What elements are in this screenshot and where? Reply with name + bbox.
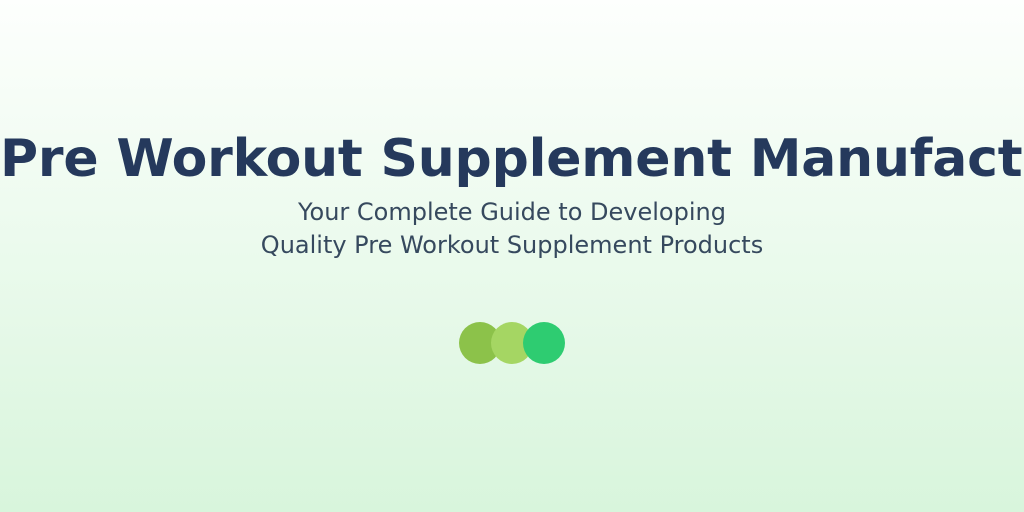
subtitle-block: Your Complete Guide to Developing Qualit… [0, 196, 1024, 262]
cover-slide: Pre Workout Supplement Manufacturer Your… [0, 0, 1024, 512]
subtitle-line-1: Your Complete Guide to Developing [0, 196, 1024, 229]
subtitle-line-2: Quality Pre Workout Supplement Products [0, 229, 1024, 262]
decorative-dot-cluster [0, 322, 1024, 364]
title-block: Pre Workout Supplement Manufacturer [0, 129, 1024, 189]
page-title: Pre Workout Supplement Manufacturer [0, 129, 1024, 189]
dot-green-right-icon [523, 322, 565, 364]
